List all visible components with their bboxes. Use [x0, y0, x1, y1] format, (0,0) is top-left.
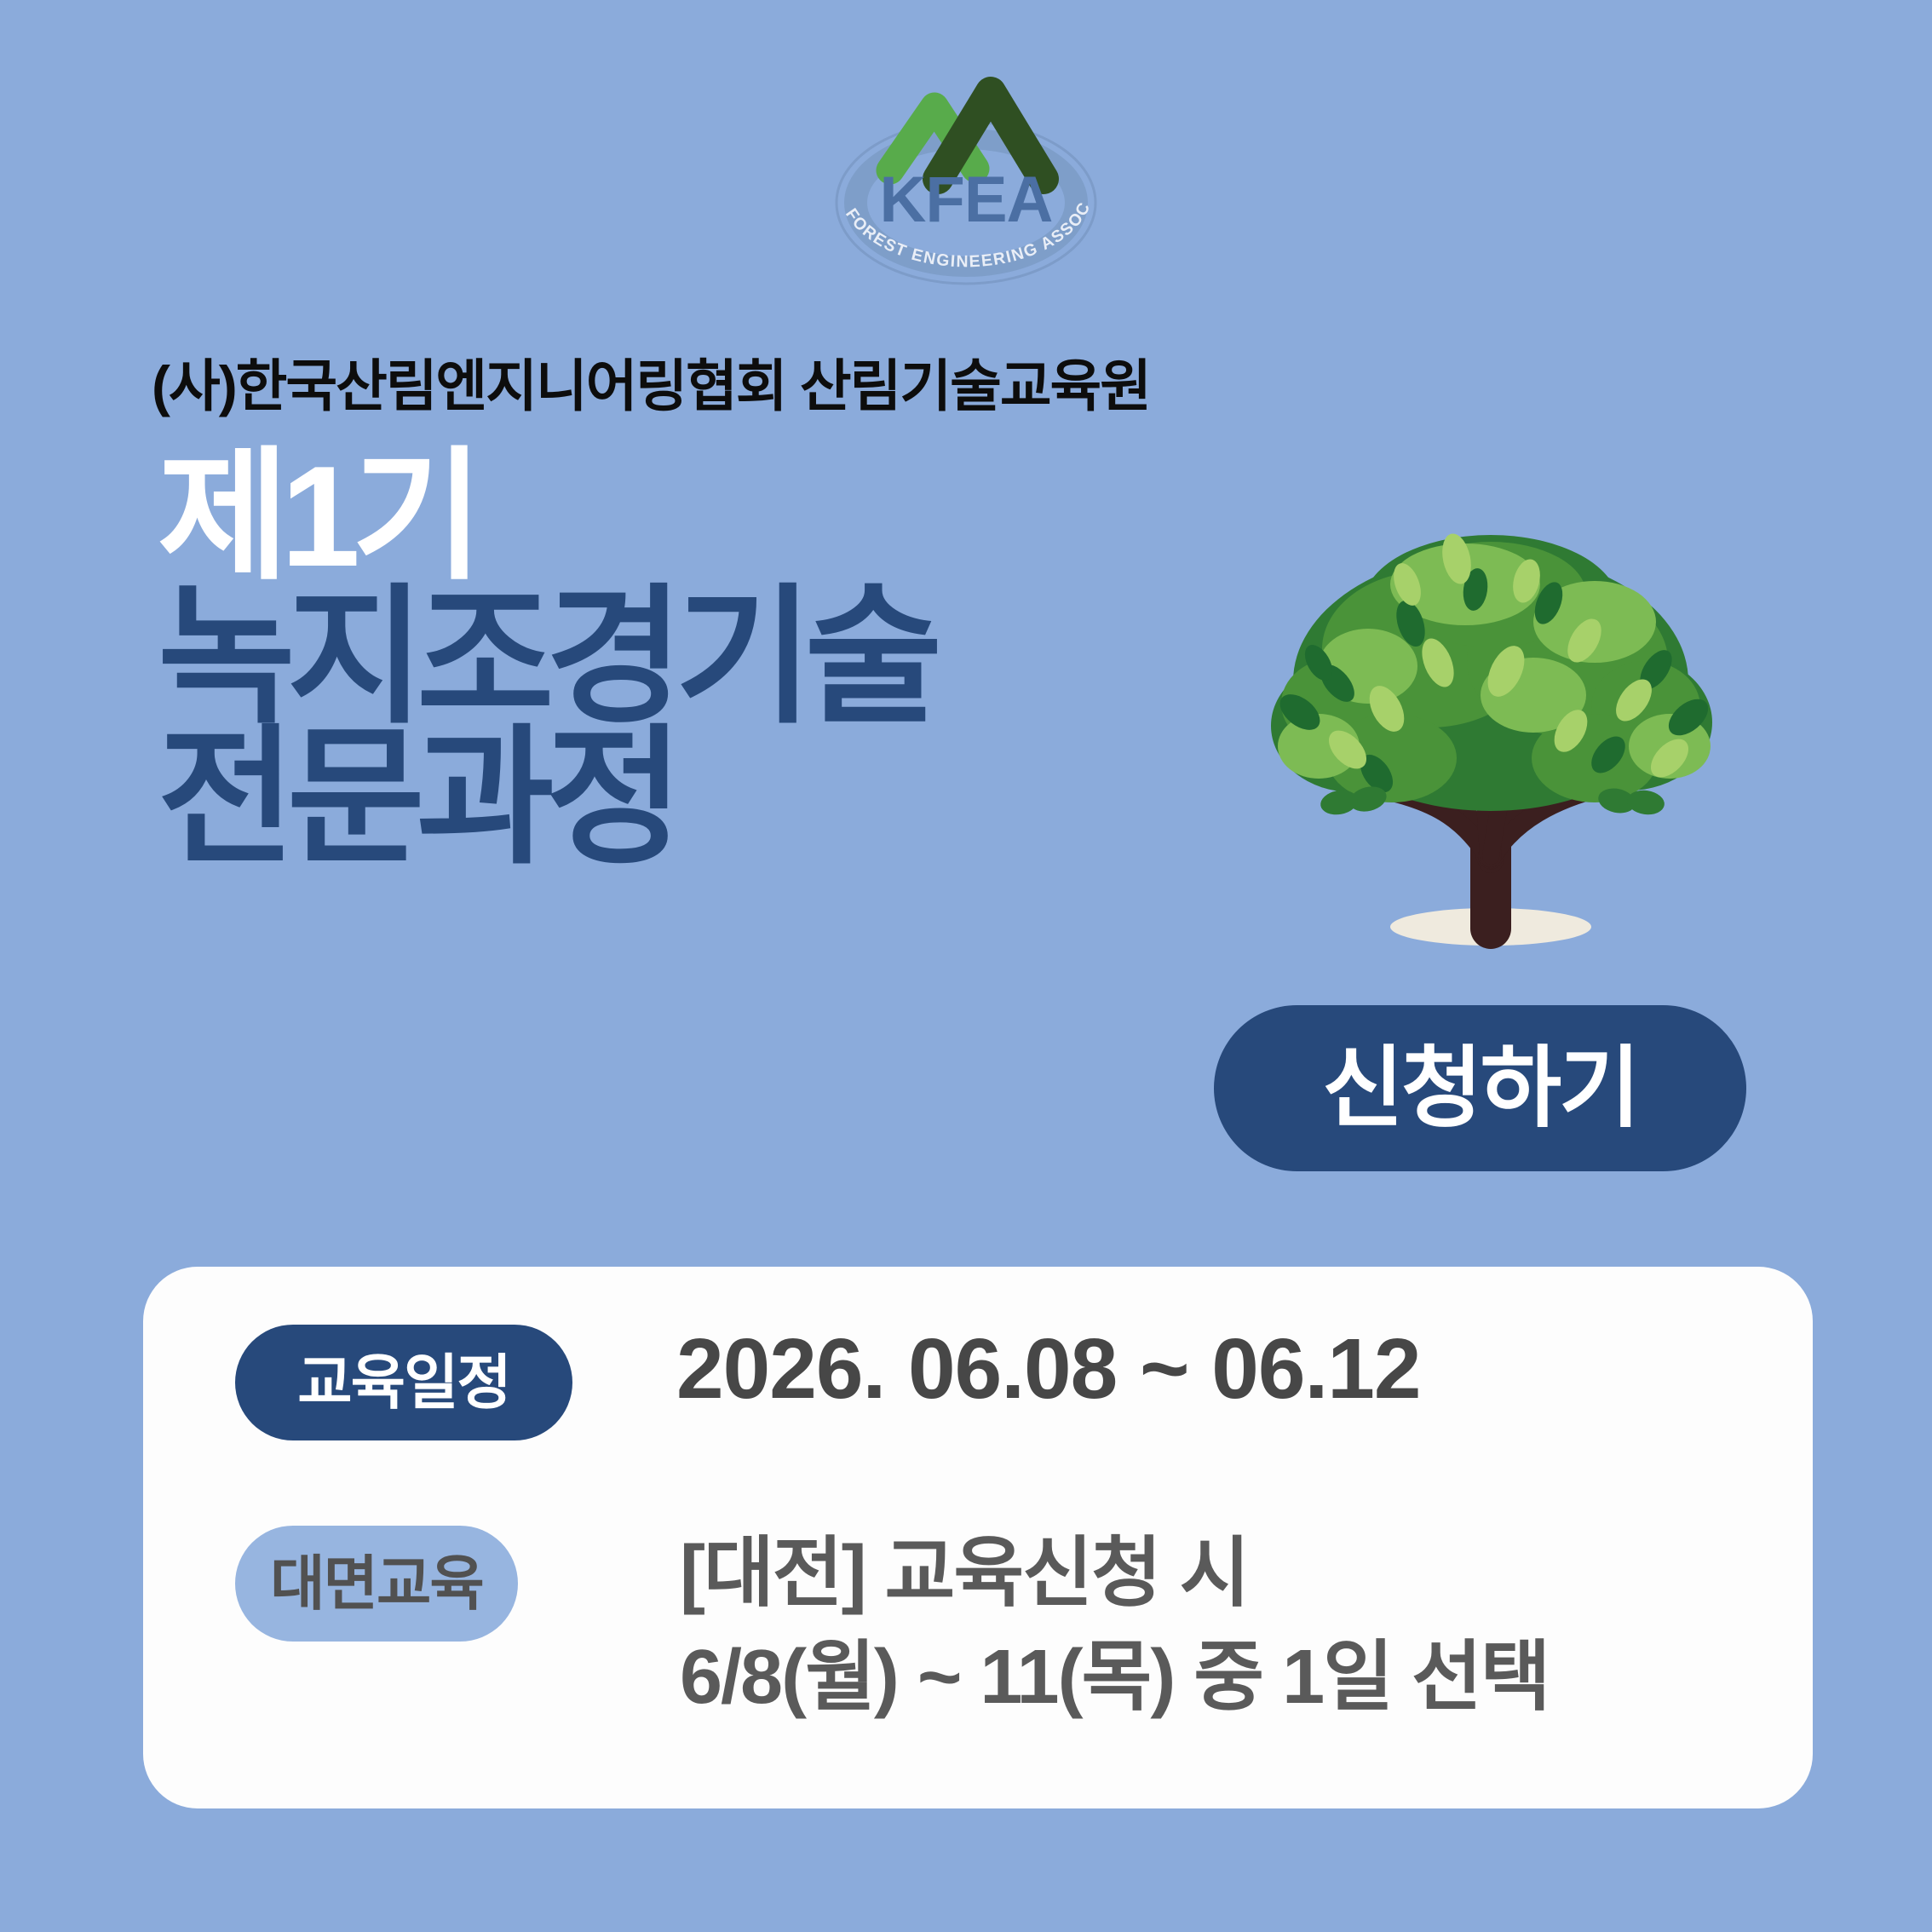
badge-schedule-label: 교육일정	[297, 1353, 510, 1412]
badge-inperson-label: 대면교육	[270, 1554, 483, 1613]
badge-schedule: 교육일정	[235, 1325, 572, 1440]
kfea-logo: KOREA FOREST ENGINEERING ASSOCIATION KFE…	[808, 60, 1124, 290]
inperson-text-group: [대전] 교육신청 시 6/8(월) ~ 11(목) 중 1일 선택	[518, 1522, 1550, 1729]
info-row-inperson: 대면교육 [대전] 교육신청 시 6/8(월) ~ 11(목) 중 1일 선택	[143, 1522, 1813, 1729]
apply-button[interactable]: 신청하기	[1214, 1005, 1746, 1171]
poster-root: KOREA FOREST ENGINEERING ASSOCIATION KFE…	[0, 0, 1932, 1932]
schedule-text-group: 2026. 06.08 ~ 06.12	[572, 1323, 1420, 1415]
svg-text:KFEA: KFEA	[880, 164, 1053, 236]
title-line-cohort: 제1기	[158, 450, 1350, 584]
title-line-main: 녹지조경기술	[158, 588, 1350, 728]
badge-inperson: 대면교육	[235, 1526, 518, 1642]
schedule-date: 2026. 06.08 ~ 06.12	[676, 1323, 1420, 1415]
info-card: 교육일정 2026. 06.08 ~ 06.12 대면교육 [대전] 교육신청 …	[143, 1267, 1813, 1808]
title-line-course: 전문과정	[158, 728, 1350, 869]
info-row-schedule: 교육일정 2026. 06.08 ~ 06.12	[143, 1323, 1813, 1440]
tree-illustration	[1210, 503, 1763, 954]
apply-button-label: 신청하기	[1322, 1044, 1638, 1133]
inperson-dateselect-line: 6/8(월) ~ 11(목) 중 1일 선택	[680, 1626, 1550, 1730]
page-title: 제1기 녹지조경기술 전문과정	[158, 450, 1350, 870]
organization-line: (사)한국산림엔지니어링협회 산림기술교육원	[152, 341, 1150, 423]
inperson-location-line: [대전] 교육신청 시	[680, 1522, 1550, 1626]
